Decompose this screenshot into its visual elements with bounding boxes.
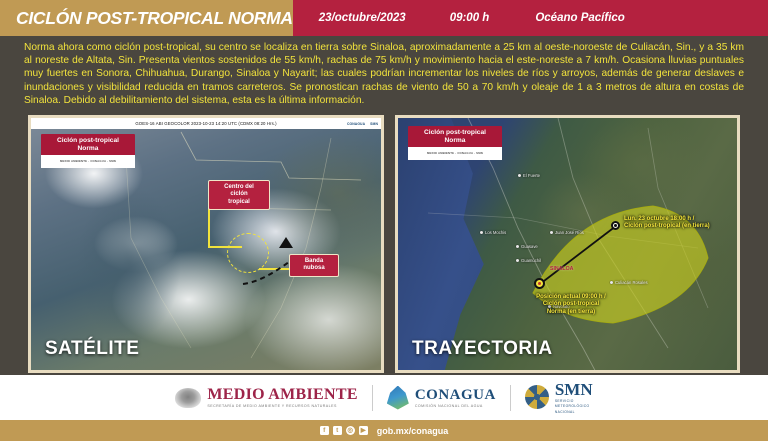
forecast-position-marker[interactable] (611, 221, 620, 230)
state-label: SINALOA (550, 266, 573, 272)
current-position-label: Posición actual 09:00 h / Ciclón post-tr… (506, 276, 636, 316)
current-position-label-l3: Norma (en tierra) (506, 309, 636, 316)
satellite-strip-logos: CONAGUA SMN (347, 122, 378, 126)
trajectory-storm-chip: Ciclón post-tropical Norma MEDIO AMBIENT… (408, 126, 502, 160)
twitter-icon[interactable]: t (333, 426, 342, 435)
website-url[interactable]: gob.mx/conagua (377, 426, 449, 436)
facebook-icon[interactable]: f (320, 426, 329, 435)
logo-smn-sub1: SERVICIO (555, 399, 593, 403)
satellite-chip-line1: Ciclón post-tropical (47, 137, 129, 145)
forecast-label: Lun. 23 octubre 18:00 h / Ciclón post-tr… (624, 216, 710, 231)
logo-conagua: CONAGUA COMISIÓN NACIONAL DEL AGUA (373, 386, 510, 410)
trajectory-caption: TRAYECTORIA (412, 338, 553, 360)
poster-root: CICLÓN POST-TROPICAL NORMA 23/octubre/20… (0, 0, 768, 441)
satellite-storm-chip: Ciclón post-tropical Norma MEDIO AMBIENT… (41, 134, 135, 168)
satellite-center-label: Centro del ciclón tropical (208, 180, 270, 210)
satellite-center-label-l2: ciclón (214, 191, 264, 198)
advisory-text: Norma ahora como ciclón post-tropical, s… (0, 36, 768, 107)
satellite-source-text: GOES-16 ABI GEOCOLOR 2023-10-23 14:20 UT… (135, 121, 276, 126)
panels-container: GOES-16 ABI GEOCOLOR 2023-10-23 14:20 UT… (0, 115, 768, 375)
header-date: 23/octubre/2023 (319, 12, 406, 24)
logo-smn-sub3: NACIONAL (555, 410, 593, 414)
forecast-label-l2: Ciclón post-tropical (en tierra) (624, 223, 710, 230)
conagua-mini-logo: CONAGUA (347, 122, 365, 126)
satellite-motion-triangle (279, 237, 293, 248)
youtube-icon[interactable]: ▶ (359, 426, 368, 435)
logo-medio-ambiente: MEDIO AMBIENTE SECRETARÍA DE MEDIO AMBIE… (161, 387, 371, 408)
page-title: CICLÓN POST-TROPICAL NORMA (0, 0, 293, 36)
satellite-band-label-l2: nubosa (295, 265, 333, 272)
logo-conagua-sub: COMISIÓN NACIONAL DEL AGUA (415, 404, 496, 408)
trajectory-chip-logos: MEDIO AMBIENTE · CONAGUA · SMN (408, 147, 502, 159)
instagram-icon[interactable]: ◎ (346, 426, 355, 435)
header: CICLÓN POST-TROPICAL NORMA 23/octubre/20… (0, 0, 768, 36)
social-bar: f t ◎ ▶ gob.mx/conagua (0, 420, 768, 441)
satellite-band-label: Banda nubosa (289, 254, 339, 277)
smn-mini-logo: SMN (370, 122, 378, 126)
satellite-source-strip: GOES-16 ABI GEOCOLOR 2023-10-23 14:20 UT… (31, 118, 381, 129)
satellite-caption: SATÉLITE (45, 338, 139, 360)
trajectory-chip-line1: Ciclón post-tropical (414, 129, 496, 137)
satellite-chip-logos: MEDIO AMBIENTE · CONAGUA · SMN (41, 155, 135, 167)
header-time: 09:00 h (450, 12, 490, 24)
trajectory-panel[interactable]: El Fuerte Los Mochis Juan José Ríos Guam… (395, 115, 740, 373)
logo-medio-ambiente-name: MEDIO AMBIENTE (207, 387, 357, 403)
footer-logos: MEDIO AMBIENTE SECRETARÍA DE MEDIO AMBIE… (0, 375, 768, 420)
logo-medio-ambiente-sub: SECRETARÍA DE MEDIO AMBIENTE Y RECURSOS … (207, 404, 357, 408)
mexico-eagle-icon (175, 388, 201, 408)
satellite-panel[interactable]: GOES-16 ABI GEOCOLOR 2023-10-23 14:20 UT… (28, 115, 384, 373)
logo-smn-name: SMN (555, 381, 593, 398)
conagua-emblem-icon (387, 386, 409, 410)
logo-conagua-name: CONAGUA (415, 388, 496, 403)
current-position-label-l2: Ciclón post-tropical (506, 301, 636, 308)
header-meta: 23/octubre/2023 09:00 h Océano Pacífico (293, 0, 768, 36)
satellite-band-label-l1: Banda (295, 258, 333, 265)
trajectory-chip-line2: Norma (414, 137, 496, 145)
satellite-chip-line2: Norma (47, 145, 129, 153)
smn-emblem-icon (525, 385, 549, 409)
satellite-center-leader-v (208, 204, 210, 248)
satellite-center-label-l1: Centro del (214, 184, 264, 191)
logo-smn: SMN SERVICIO METEOROLÓGICO NACIONAL (511, 381, 607, 414)
logo-smn-sub2: METEOROLÓGICO (555, 404, 593, 408)
satellite-center-label-l3: tropical (214, 199, 264, 206)
header-basin: Océano Pacífico (535, 12, 624, 24)
